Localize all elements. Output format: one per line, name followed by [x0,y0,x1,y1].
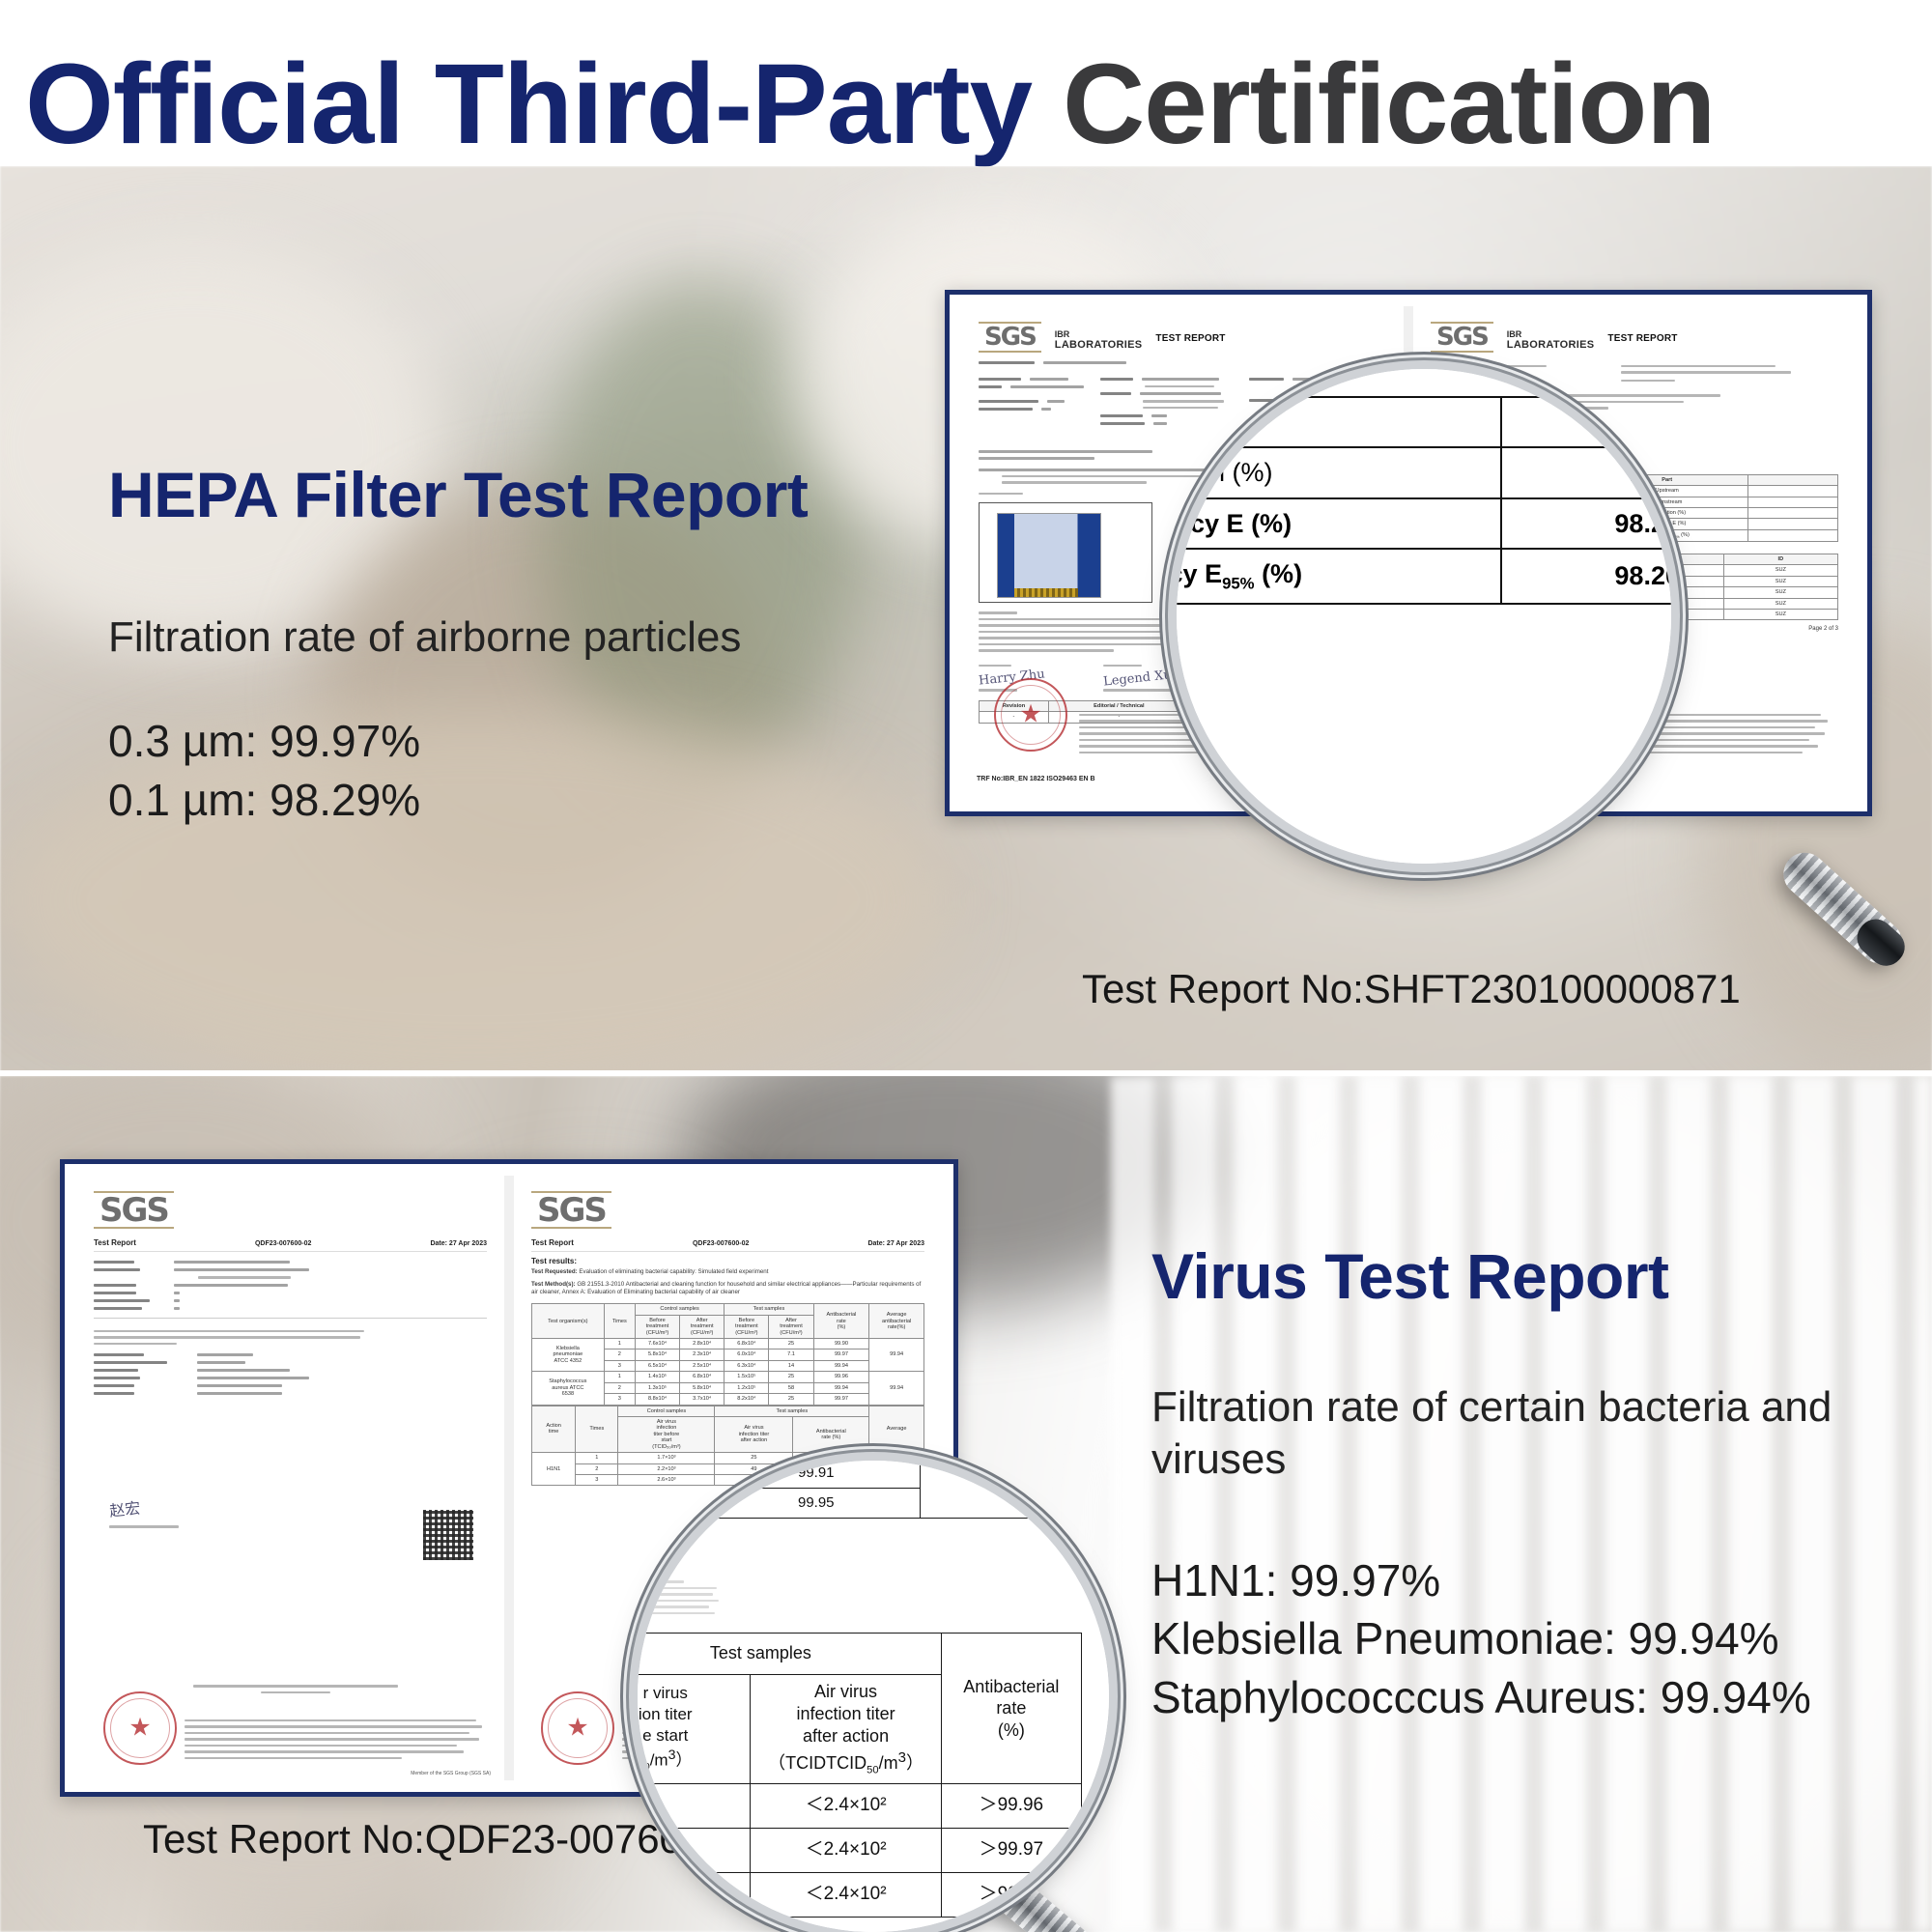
footer-org [105,1685,485,1697]
test-method: Test Method(s): GB 21551.3-2010 Antibact… [531,1281,924,1297]
sgs-logo: SGS [531,1191,611,1229]
mag2-cell-avg: 99.94 [920,1461,1109,1519]
sgs-logo: SGS [979,322,1041,353]
red-seal-stamp-icon [103,1691,177,1765]
mag-row-0-label: nstream [1177,397,1501,447]
doc-number: QDF23-007600-02 [255,1240,311,1247]
mag2-row-2-titer: ＜2.4×10² [751,1872,941,1917]
mag-row-1-label: etration (%) [1177,447,1501,497]
mag-row-0-value: 10 [1501,397,1671,447]
virus-subheading: Filtration rate of certain bacteria and … [1151,1381,1847,1485]
hepa-stats: 0.3 µm: 99.97% 0.1 µm: 98.29% [108,712,808,829]
authorized-signature-block: 赵宏 [109,1494,179,1532]
mag2-header-group: Test samples [638,1634,941,1675]
doc-date: Date: 27 Apr 2023 [430,1240,487,1247]
ibr-lab-label: IBR LABORATORIES [1055,322,1143,352]
mag2-header-col3: Antibacterial rate (%) [941,1634,1081,1784]
certification-infographic: Official Third-Party Certification HEPA … [0,0,1932,1932]
hepa-subheading: Filtration rate of airborne particles [108,611,808,664]
page-title-primary: Official Third-Party [25,41,1063,168]
reference-fields [94,1353,487,1395]
mag-row-2-label: ciency E (%) [1177,498,1501,549]
red-seal-stamp-icon [541,1691,614,1765]
virus-text-panel: Virus Test Report Filtration rate of cer… [1151,1243,1847,1727]
lens-edge-fragment [641,1577,724,1618]
mag2-row-0-titer: ＜2.4×10² [751,1783,941,1828]
mag-row-1-value: 1.709 [1501,447,1671,497]
bacteria-results-table: Test organism(s) Times Control samples T… [531,1303,924,1405]
magnified-virus-table: 99.97 99.94 99.94 25 99.96 99.94 [638,1461,1109,1519]
trf-number: TRF No:IBR_EN 1822 ISO29463 EN B [977,776,1095,782]
hepa-text-panel: HEPA Filter Test Report Filtration rate … [108,462,808,829]
red-seal-stamp-icon [994,678,1067,752]
mag-row-2-value: 98.291 [1501,498,1671,549]
hepa-stat-0: 0.3 µm: 99.97% [108,712,808,771]
mag2-cell-18: 18 [638,1489,712,1519]
virus-stats: H1N1: 99.97% Klebsiella Pneumoniae: 99.9… [1151,1551,1847,1727]
doc-type-label: TEST REPORT [1607,322,1677,344]
report-number-line [979,361,1386,364]
page-title-secondary: Certification [1063,41,1715,168]
doc-header-row: Test Report QDF23-007600-02 Date: 27 Apr… [531,1238,924,1252]
virus-heading: Virus Test Report [1151,1243,1847,1310]
doc-number: QDF23-007600-02 [693,1240,749,1247]
doc-type-label: Test Report [531,1238,574,1247]
qr-code-icon [423,1510,473,1560]
hepa-report-number: Test Report No:SHFT230100000871 [1082,966,1741,1012]
mag2-header-col1: r virusion titere start50/m3） [638,1674,751,1783]
mag2-row-1-rate: ＞99.97 [941,1828,1081,1872]
mag2-cell-9995: 99.95 [712,1489,920,1519]
disclaimer-note [94,1318,487,1346]
mag-row-3-value: 98.203 [1501,549,1671,604]
lens-edge-fragment [1182,373,1265,402]
test-requested: Test Requested: Evaluation of eliminatin… [531,1268,924,1276]
sgs-logo: SGS [1431,322,1493,353]
results-label: Test results: [531,1257,924,1265]
magnified-test-samples-table: Test samples Antibacterial rate (%) r vi… [638,1633,1082,1918]
mag2-row-1-titer: ＜2.4×10² [751,1828,941,1872]
mag2-row-2-rate: ＞99.95 [941,1872,1081,1917]
doc-date: Date: 27 Apr 2023 [867,1240,924,1247]
client-fields [94,1261,487,1310]
mag-row-3-label: ency E95% (%) [1177,549,1501,604]
mag2-cell-49: 49 [638,1461,712,1489]
sgs-logo: SGS [94,1191,174,1229]
doc-type-label: TEST REPORT [1155,322,1225,344]
page-title: Official Third-Party Certification [0,47,1715,161]
ibr-lab-label: IBR LABORATORIES [1507,322,1595,352]
hepa-stat-1: 0.1 µm: 98.29% [108,771,808,830]
doc-type-label: Test Report [94,1238,136,1247]
mag2-header-col2: Air virus infection titer after action （… [751,1674,941,1783]
doc-header-row: Test Report QDF23-007600-02 Date: 27 Apr… [94,1238,487,1252]
virus-stat-1: Klebsiella Pneumoniae: 99.94% [1151,1609,1847,1668]
mag2-row-0-rate: ＞99.96 [941,1783,1081,1828]
magnified-results-table: nstream 10 etration (%) 1.709 ciency E (… [1177,396,1671,605]
virus-stat-0: H1N1: 99.97% [1151,1551,1847,1610]
footer-microtext [185,1716,495,1764]
mag2-cell-9991: 99.91 [712,1461,920,1489]
sample-photo [997,513,1101,598]
section-divider [0,1070,1932,1076]
virus-doc-page-1: SGS Test Report QDF23-007600-02 Date: 27… [76,1176,514,1780]
hepa-heading: HEPA Filter Test Report [108,462,808,528]
sgs-group-member-note: Member of the SGS Group (SGS SA) [411,1771,491,1776]
virus-stat-2: Staphylococccus Aureus: 99.94% [1151,1668,1847,1727]
